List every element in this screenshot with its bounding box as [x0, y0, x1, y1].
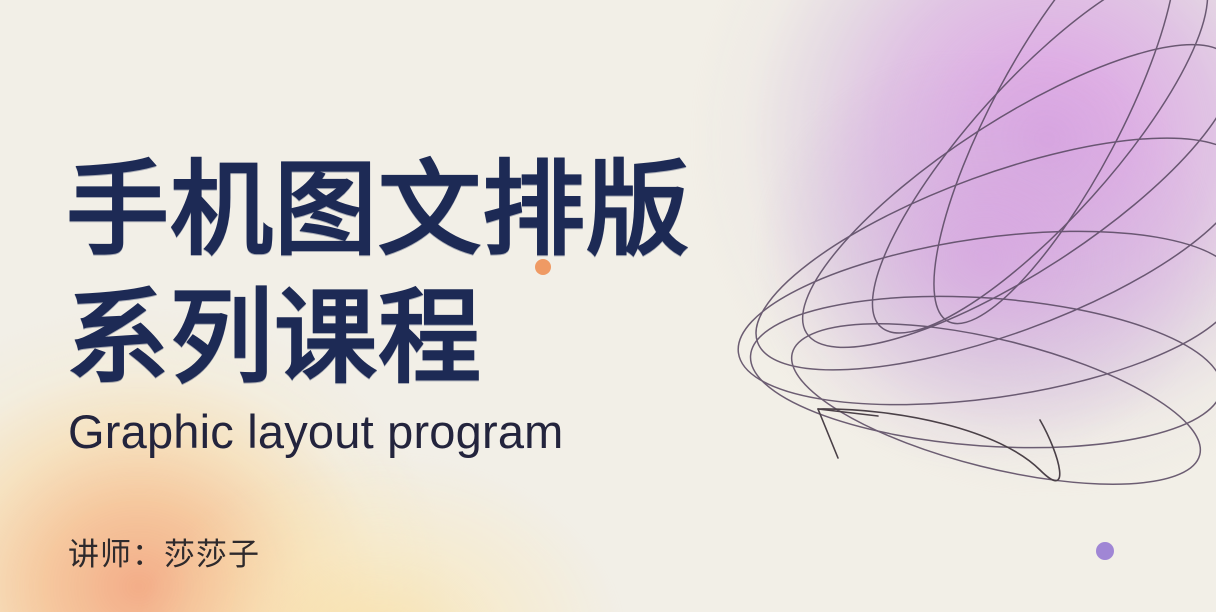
page-title: 手机图文排版 系列课程 — [66, 146, 690, 402]
subtitle: Graphic layout program — [68, 404, 564, 460]
course-poster: 手机图文排版 系列课程 Graphic layout program 讲师：莎莎… — [0, 0, 1216, 612]
instructor-label: 讲师：莎莎子 — [68, 534, 260, 576]
title-line-1: 手机图文排版 — [66, 146, 690, 274]
title-line-2: 系列课程 — [66, 274, 690, 402]
purple-gradient-blob-secondary — [736, 60, 1216, 530]
